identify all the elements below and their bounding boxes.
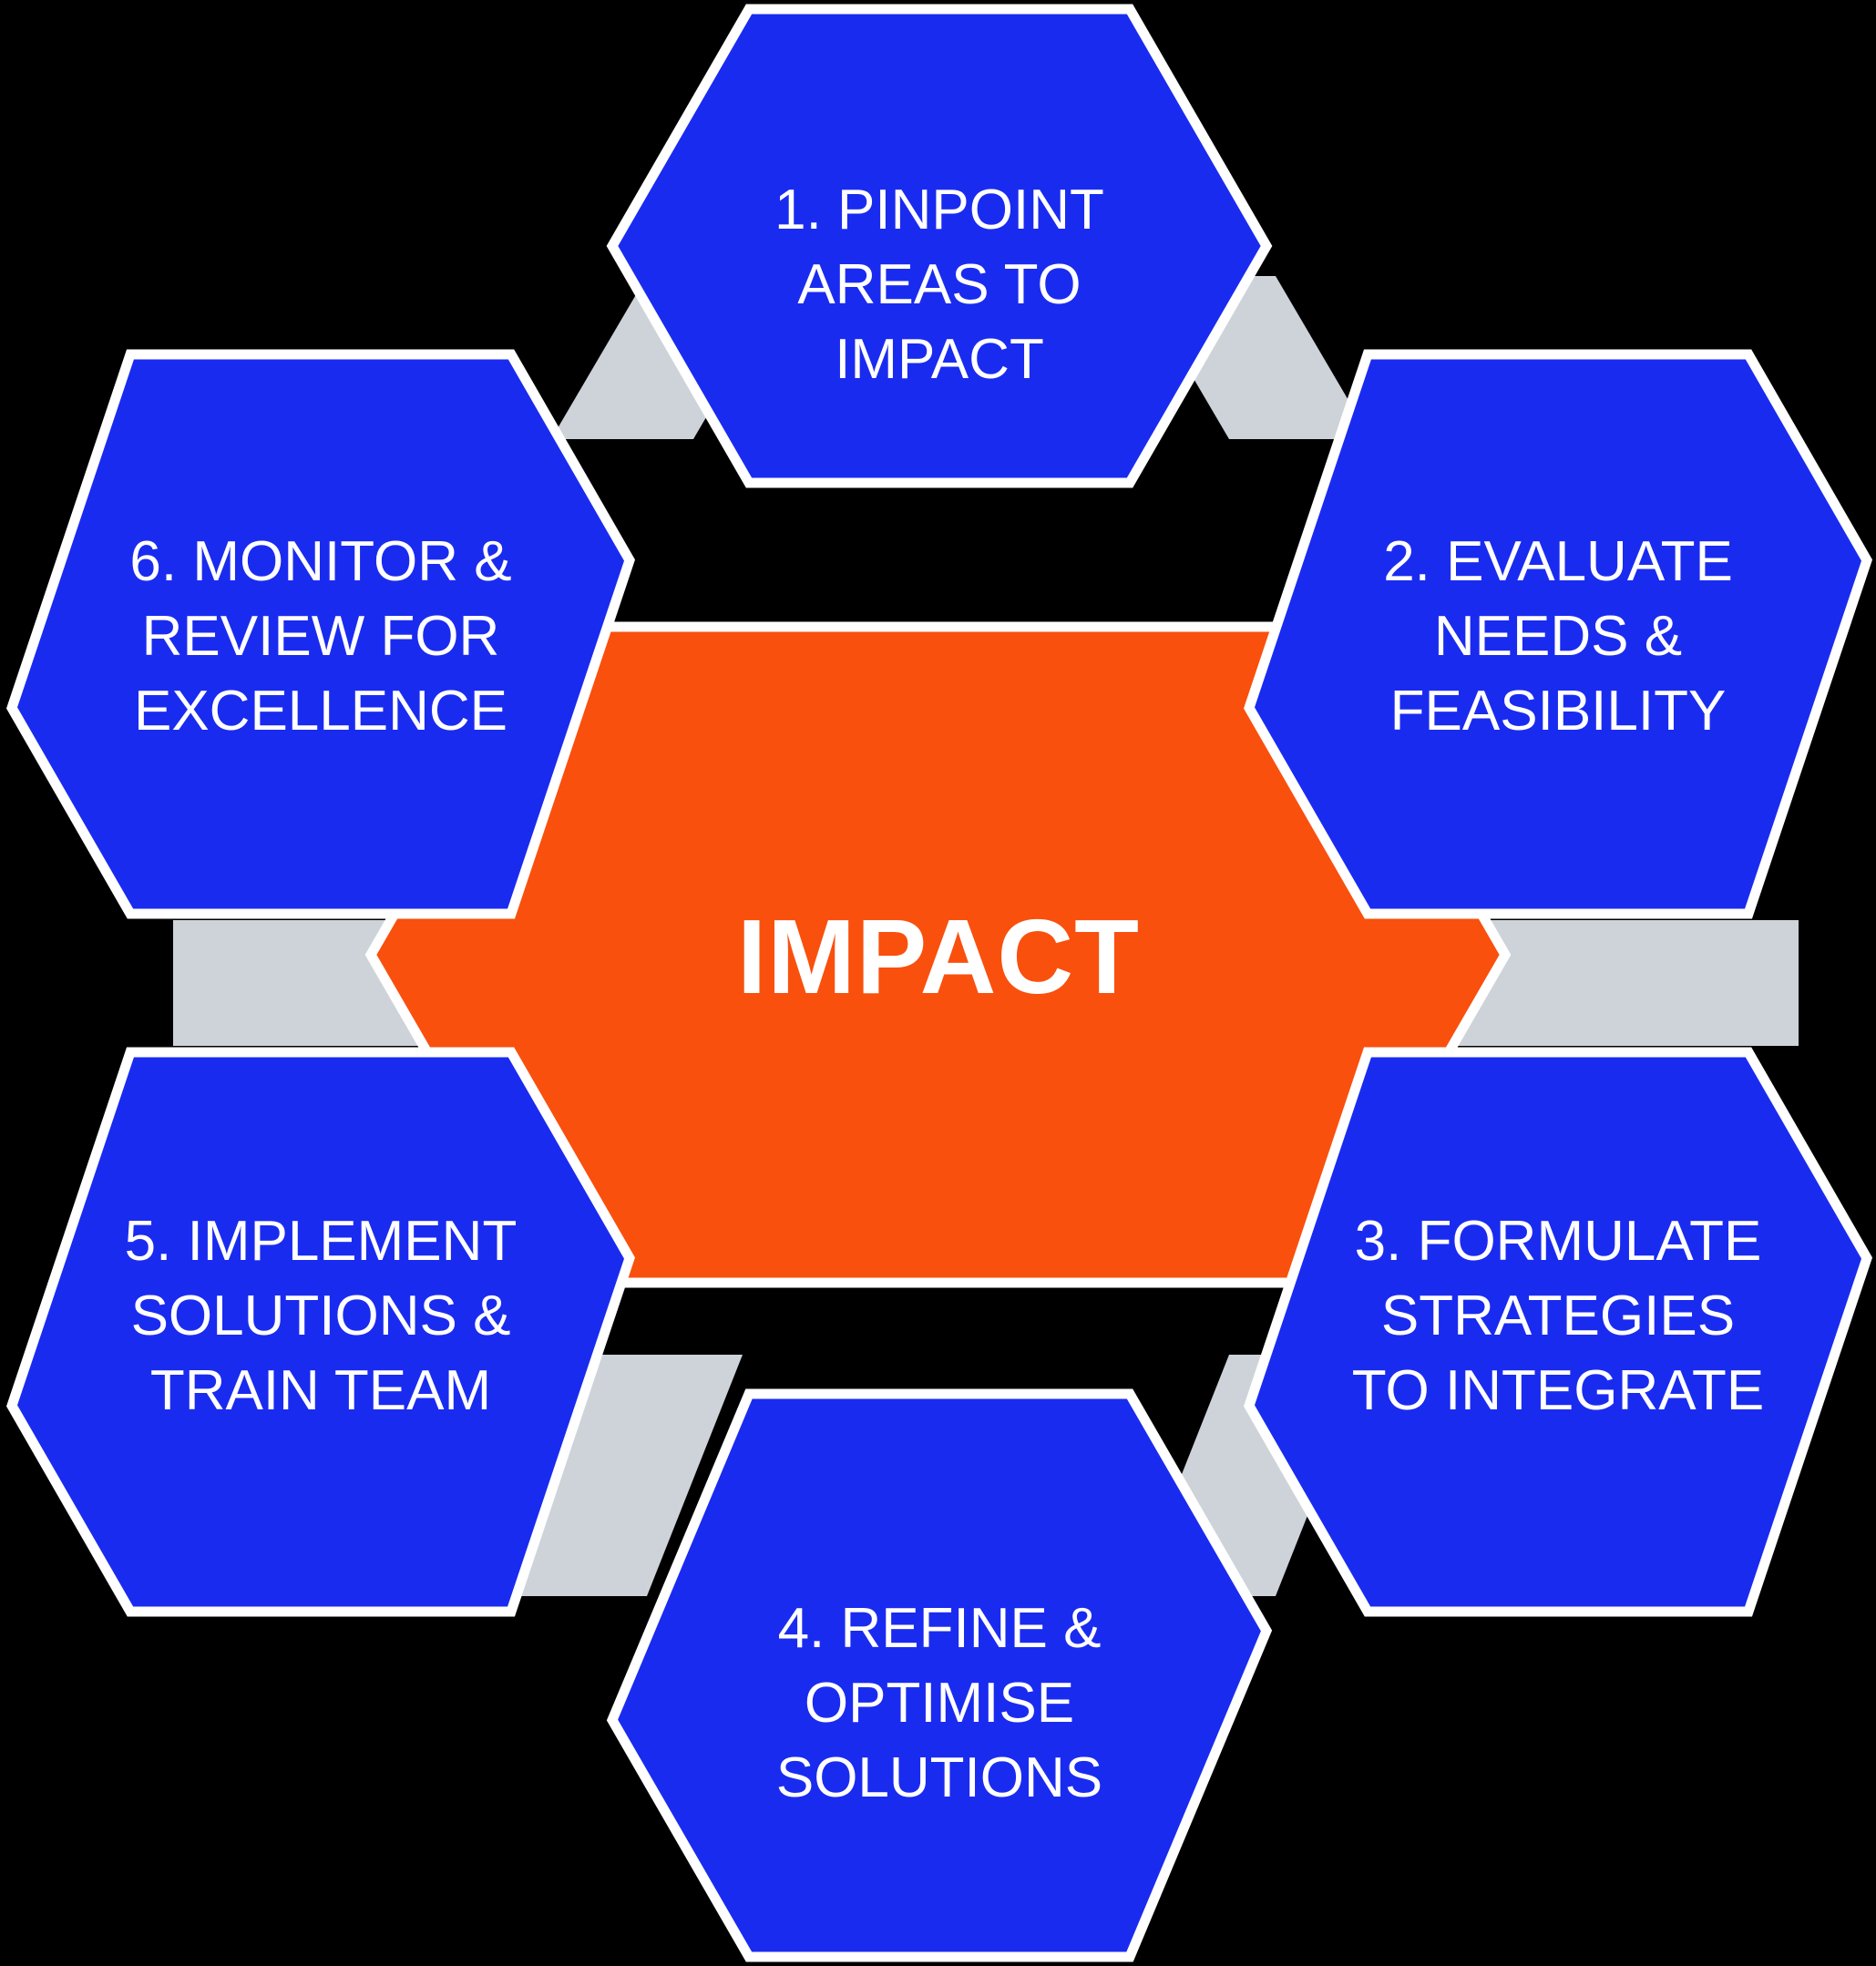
hexagon-step-3-line-1: 3. FORMULATE (1355, 1210, 1762, 1273)
hexagon-step-3-line-3: TO INTEGRATE (1352, 1359, 1764, 1422)
center-hexagon-label: IMPACT (737, 897, 1140, 1016)
hexagon-step-3[interactable]: 3. FORMULATE STRATEGIES TO INTEGRATE (1249, 1052, 1867, 1612)
hexagon-step-5-line-2: SOLUTIONS & (131, 1285, 511, 1347)
hexagon-step-2-line-2: NEEDS & (1434, 605, 1682, 668)
hexagon-step-6-line-3: EXCELLENCE (134, 680, 507, 742)
diagram-canvas: IMPACT 1. PINPOINT AREAS TO IMPACT 2. EV… (0, 0, 1876, 1966)
hexagon-step-2-line-1: 2. EVALUATE (1383, 530, 1733, 593)
hexagon-step-5-line-1: 5. IMPLEMENT (125, 1210, 518, 1273)
hexagon-step-4[interactable]: 4. REFINE & OPTIMISE SOLUTIONS (612, 1394, 1266, 1957)
hexagon-step-1-shape[interactable] (612, 9, 1266, 483)
hexagon-step-2[interactable]: 2. EVALUATE NEEDS & FEASIBILITY (1249, 354, 1867, 914)
impact-hexagon-diagram: IMPACT 1. PINPOINT AREAS TO IMPACT 2. EV… (0, 0, 1876, 1966)
hexagon-step-1-line-2: AREAS TO (797, 253, 1081, 316)
hexagon-step-1[interactable]: 1. PINPOINT AREAS TO IMPACT (612, 9, 1266, 483)
hexagon-step-6[interactable]: 6. MONITOR & REVIEW FOR EXCELLENCE (12, 354, 630, 914)
hexagon-step-1-line-3: IMPACT (835, 328, 1044, 391)
hexagon-step-5-line-3: TRAIN TEAM (150, 1359, 491, 1422)
hexagon-step-4-line-2: OPTIMISE (805, 1672, 1074, 1735)
hexagon-step-4-line-3: SOLUTIONS (776, 1746, 1102, 1809)
hexagon-step-5[interactable]: 5. IMPLEMENT SOLUTIONS & TRAIN TEAM (12, 1052, 630, 1612)
hexagon-step-2-line-3: FEASIBILITY (1390, 680, 1727, 742)
hexagon-step-6-line-2: REVIEW FOR (142, 605, 500, 668)
hexagon-step-1-line-1: 1. PINPOINT (774, 179, 1104, 241)
hexagon-step-4-line-1: 4. REFINE & (778, 1597, 1102, 1660)
hexagon-step-6-line-1: 6. MONITOR & (129, 530, 511, 593)
hexagon-step-3-line-2: STRATEGIES (1381, 1285, 1735, 1347)
